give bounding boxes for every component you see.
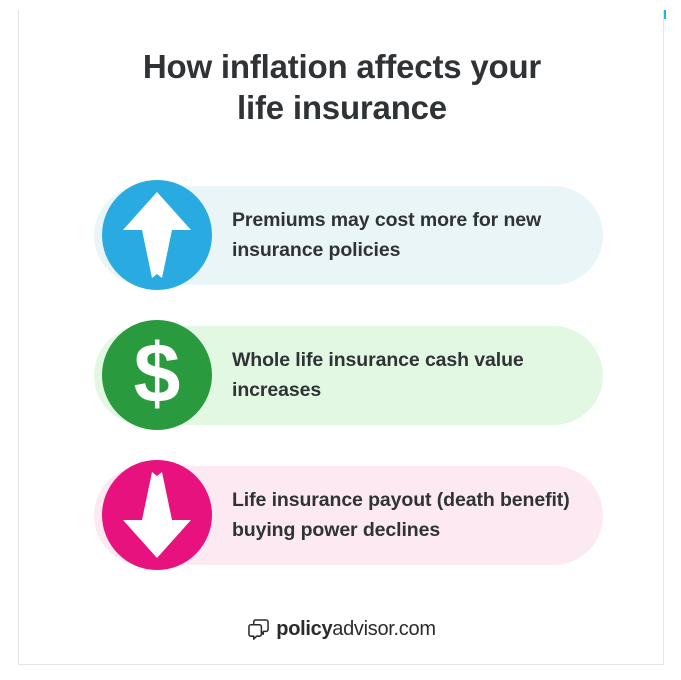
list-item-premiums: Premiums may cost more for new insurance… (19, 180, 665, 290)
arrow-down-icon (102, 460, 212, 570)
card-text-premiums: Premiums may cost more for new insurance… (232, 180, 592, 290)
brand-wordmark: policyadvisor.com (276, 618, 435, 641)
arrow-up-icon (102, 180, 212, 290)
page-title: How inflation affects your life insuranc… (79, 46, 605, 128)
brand-wordmark-light: advisor.com (332, 618, 435, 640)
card-text-cash-value: Whole life insurance cash value increase… (232, 320, 592, 430)
card-text-buying-power: Life insurance payout (death benefit) bu… (232, 460, 592, 570)
dollar-sign-icon: $ (102, 320, 212, 430)
list-item-buying-power: Life insurance payout (death benefit) bu… (19, 460, 665, 570)
page-title-line-2: life insurance (79, 87, 605, 128)
card-list: Premiums may cost more for new insurance… (19, 180, 665, 600)
policyadvisor-speech-bubble-logo-icon (248, 619, 269, 640)
brand-wordmark-bold: policy (276, 618, 332, 640)
footer-brand: policyadvisor.com (19, 618, 665, 641)
page-title-line-1: How inflation affects your (79, 46, 605, 87)
dollar-sign-glyph: $ (134, 331, 181, 415)
list-item-cash-value: $ Whole life insurance cash value increa… (19, 320, 665, 430)
infographic-card: How inflation affects your life insuranc… (18, 10, 664, 665)
